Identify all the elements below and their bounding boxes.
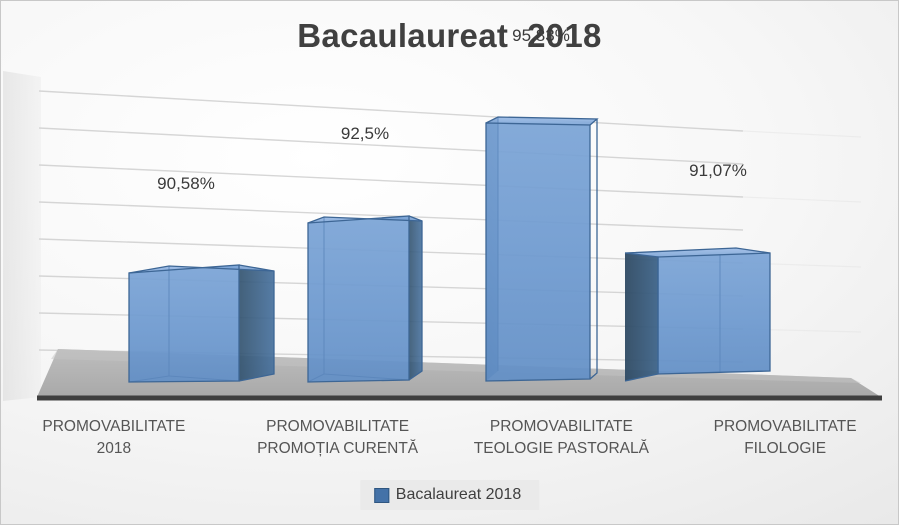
category-label-1: PROMOVABILITATE 2018 [2,410,226,472]
bar-column-3[interactable] [486,117,597,381]
chart-container: Bacaulaureat 2018 [0,0,899,525]
plot-svg [1,71,898,411]
category-label-2: PROMOVABILITATE PROMOȚIA CURENTĂ [226,410,450,472]
legend-series-label: Bacalaureat 2018 [396,486,521,504]
bar-column-1[interactable] [129,265,274,382]
chart-title: Bacaulaureat 2018 [1,17,898,55]
plot-area: 90,58% 92,5% 95,83% 91,07% [1,71,898,411]
category-axis-labels: PROMOVABILITATE 2018 PROMOVABILITATE PRO… [2,410,897,472]
data-label-4: 91,07% [689,161,747,181]
data-label-2: 92,5% [341,124,389,144]
bar-column-4[interactable] [625,248,770,381]
bar-column-2[interactable] [308,216,422,382]
chart-legend[interactable]: Bacalaureat 2018 [360,480,539,510]
data-label-3: 95,83% [512,26,570,46]
category-label-4: PROMOVABILITATE FILOLOGIE [673,410,897,472]
legend-swatch-icon [374,488,389,503]
back-wall-left [3,71,41,401]
data-label-1: 90,58% [157,174,215,194]
category-label-3: PROMOVABILITATE TEOLOGIE PASTORALĂ [450,410,674,472]
